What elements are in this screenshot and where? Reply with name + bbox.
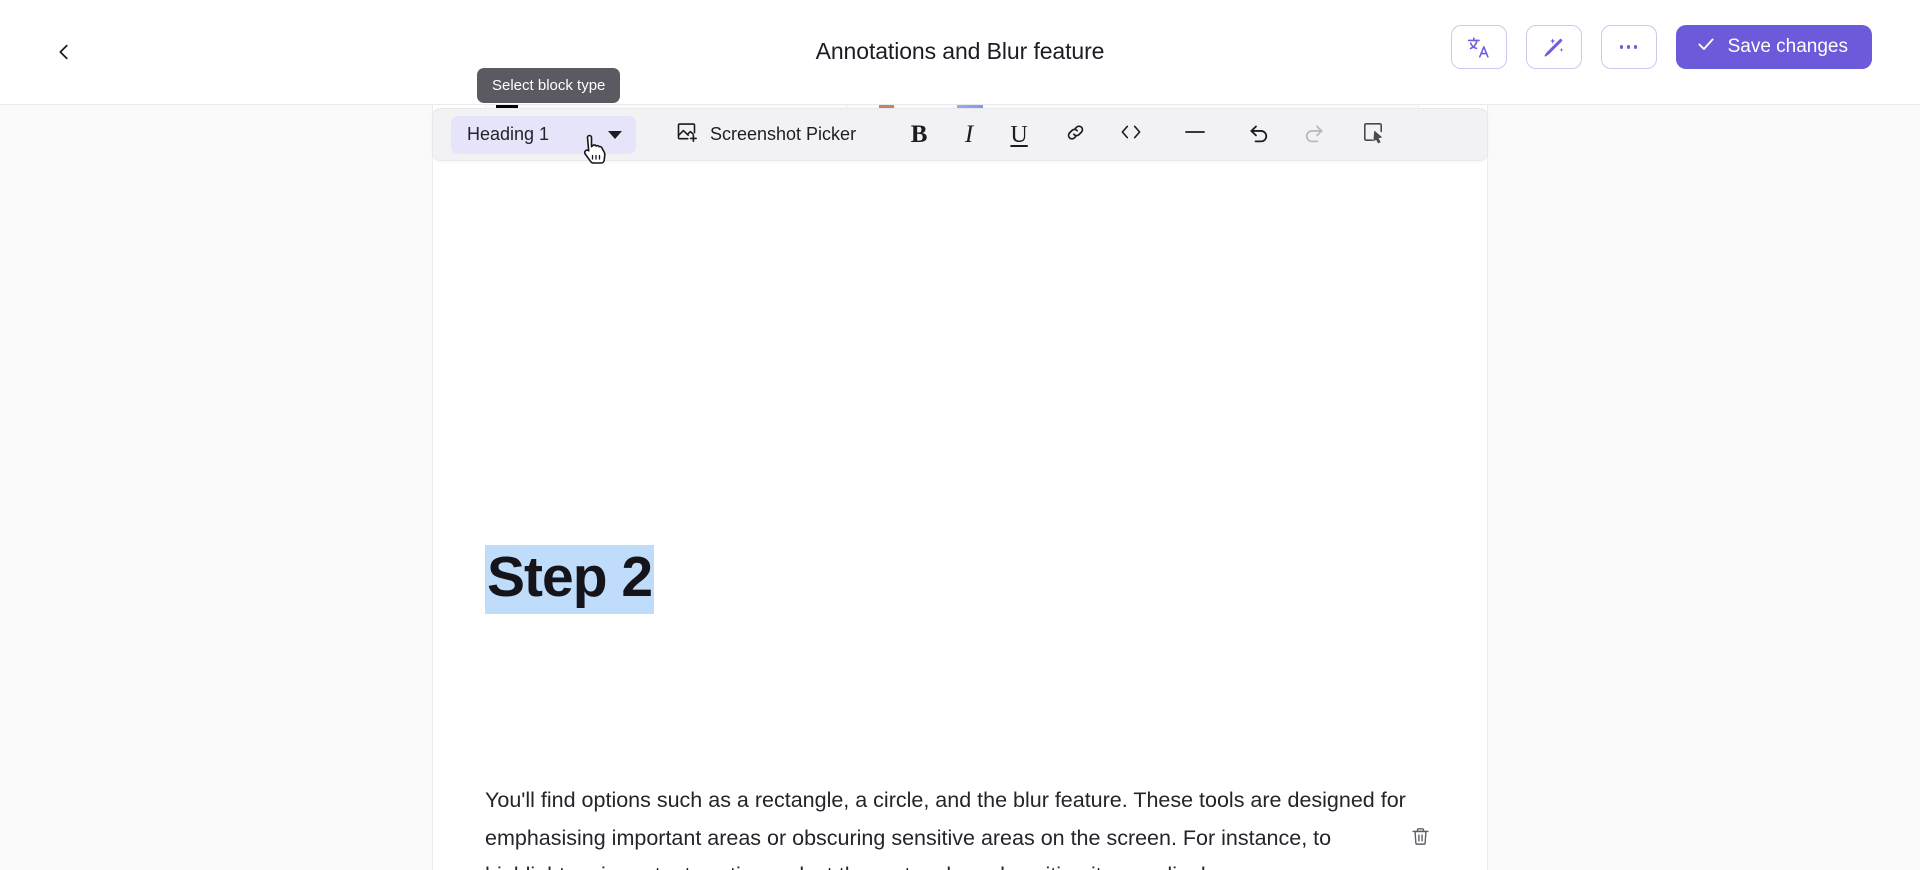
block-type-value: Heading 1: [467, 124, 549, 145]
select-block-button[interactable]: [1349, 115, 1397, 155]
cursor-select-icon: [1361, 120, 1385, 149]
header-actions: Save changes: [1451, 25, 1872, 69]
app-header: Annotations and Blur feature: [0, 0, 1920, 105]
code-button[interactable]: [1107, 115, 1155, 155]
redo-icon: [1301, 120, 1326, 150]
editor-app: Annotations and Blur feature: [0, 0, 1920, 870]
underline-icon: U: [1010, 123, 1027, 147]
heading-text[interactable]: Step 2: [485, 545, 654, 614]
editor-canvas: Here is the annotation Step 2 You'll fin…: [0, 105, 1920, 870]
more-options-button[interactable]: [1601, 25, 1657, 69]
paragraph-text[interactable]: You'll find options such as a rectangle,…: [485, 782, 1410, 870]
check-icon: [1696, 34, 1716, 60]
save-changes-label: Save changes: [1728, 36, 1848, 58]
heading-block[interactable]: Step 2: [485, 545, 654, 614]
redo-button[interactable]: [1289, 115, 1337, 155]
link-button[interactable]: [1051, 115, 1099, 155]
image-add-icon: [675, 120, 699, 149]
code-icon: [1118, 120, 1144, 149]
magic-wand-icon: [1541, 35, 1566, 60]
trash-icon: [1410, 826, 1431, 852]
ellipsis-icon: [1620, 45, 1638, 49]
block-type-select[interactable]: Heading 1: [451, 116, 636, 154]
screenshot-picker-label: Screenshot Picker: [710, 124, 856, 145]
undo-icon: [1247, 120, 1272, 150]
horizontal-rule-icon: [1182, 120, 1208, 149]
translate-icon: [1466, 35, 1491, 60]
ai-magic-button[interactable]: [1526, 25, 1582, 69]
block-formatting-toolbar: Heading 1 Screenshot Picker B I U: [432, 108, 1488, 161]
chevron-down-icon: [608, 131, 622, 139]
save-changes-button[interactable]: Save changes: [1676, 25, 1872, 69]
block-type-tooltip: Select block type: [477, 68, 620, 103]
delete-block-button[interactable]: [1401, 820, 1439, 858]
paragraph-block[interactable]: You'll find options such as a rectangle,…: [485, 782, 1419, 870]
italic-icon: I: [965, 122, 973, 147]
translate-button[interactable]: [1451, 25, 1507, 69]
bold-icon: B: [911, 122, 928, 147]
underline-button[interactable]: U: [995, 115, 1043, 155]
italic-button[interactable]: I: [945, 115, 993, 155]
link-icon: [1064, 121, 1087, 149]
undo-button[interactable]: [1235, 115, 1283, 155]
horizontal-rule-button[interactable]: [1171, 115, 1219, 155]
document-sheet: Here is the annotation Step 2 You'll fin…: [432, 105, 1488, 870]
bold-button[interactable]: B: [895, 115, 943, 155]
screenshot-picker-button[interactable]: Screenshot Picker: [662, 116, 869, 154]
